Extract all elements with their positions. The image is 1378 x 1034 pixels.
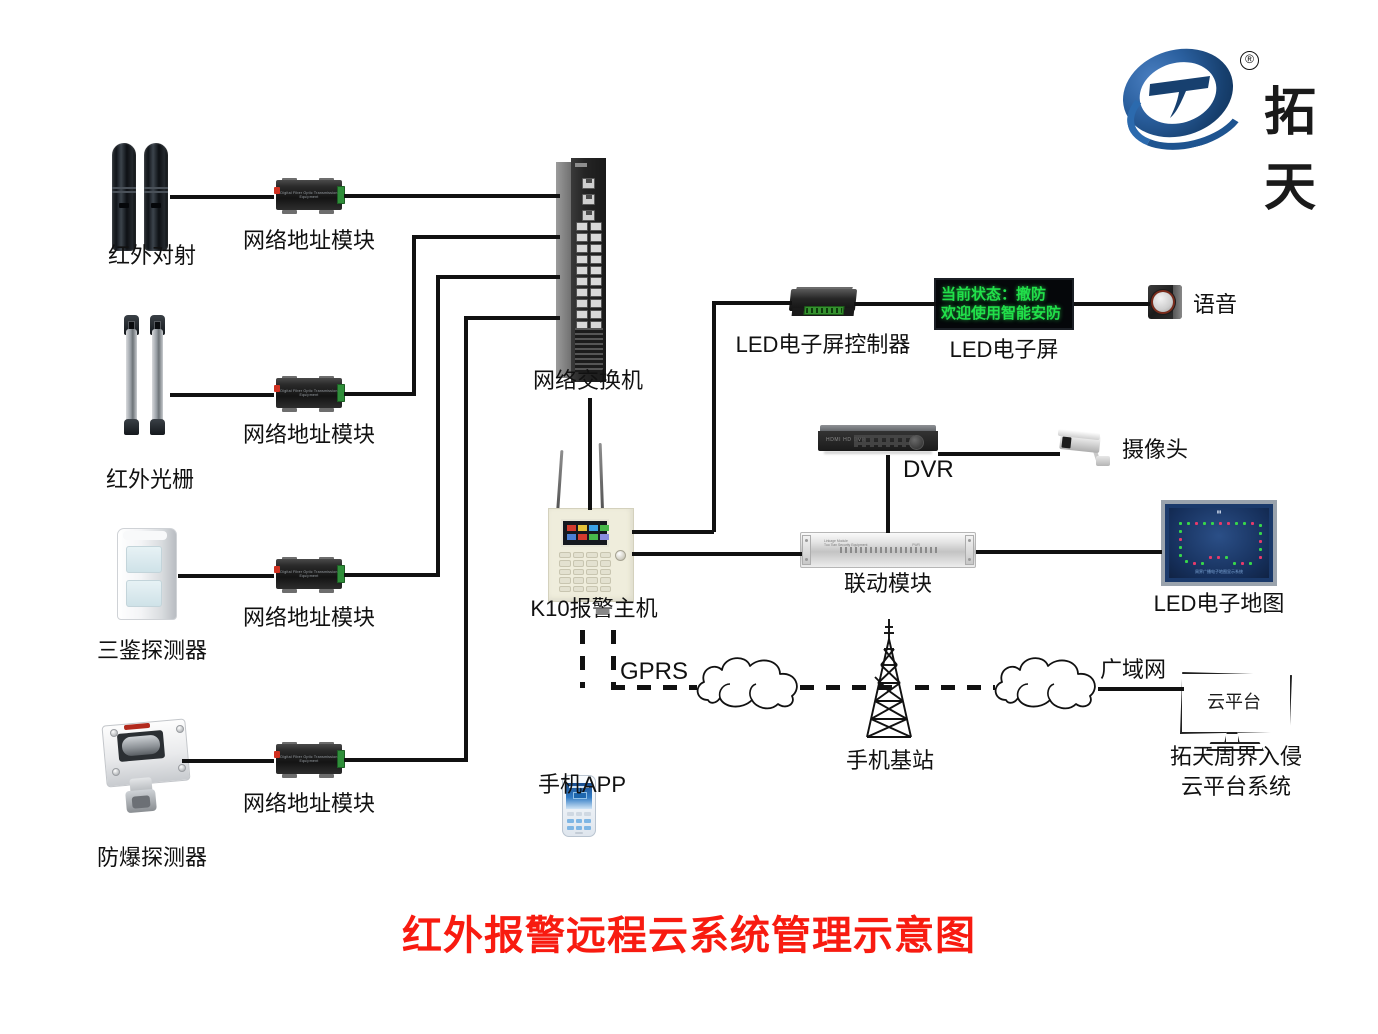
linkage-module-label: 联动模块 [844, 571, 932, 596]
link-board-voice [1074, 302, 1150, 306]
gprs-label: GPRS [620, 658, 688, 686]
ir-grating-label: 红外光栅 [106, 467, 194, 492]
monitor-screen-text: 云平台 [1180, 688, 1288, 714]
link-dvr-camera [938, 452, 1060, 456]
explosion-proof-detector-icon [100, 716, 210, 828]
cloud-platform-label-2: 云平台系统 [1181, 774, 1291, 799]
explosion-proof-label: 防爆探测器 [97, 845, 207, 870]
base-station-label: 手机基站 [846, 748, 934, 773]
net-address-module-4: Digital Fiber Optic Transmission Equipme… [272, 738, 346, 780]
cell-tower-icon [845, 619, 933, 747]
rack-linkage-module-icon: Linkage ModuleTuo Tian Security Equipmen… [800, 532, 976, 568]
triple-detector-label: 三鉴探测器 [97, 638, 207, 663]
dashed-k10-phone [580, 630, 585, 688]
link-module4-seg2 [464, 317, 468, 762]
link-module4-seg3 [464, 316, 560, 320]
led-line-2: 欢迎使用智能安防 [941, 304, 1067, 323]
link-grating-module [170, 393, 274, 397]
led-controller-label: LED电子屏控制器 [736, 332, 911, 357]
link-module3-seg3 [436, 275, 560, 279]
cloud-platform-label-1: 拓天周界入侵 [1170, 744, 1302, 769]
link-switch-k10 [588, 398, 592, 510]
link-module2-seg1 [344, 392, 416, 396]
dashed-gprs-riser [611, 630, 616, 687]
link-ledctl-board [854, 302, 936, 306]
dashed-cloud-to-tower [800, 685, 895, 690]
link-exp-module [182, 759, 274, 763]
link-k10-ledctl-seg1 [632, 530, 714, 534]
cloud-icon-right [988, 650, 1112, 714]
infrared-beam-sensor-icon [112, 143, 168, 251]
link-module3-seg1 [344, 573, 440, 577]
alarm-control-panel-icon [548, 508, 632, 600]
link-wan-monitor [1098, 687, 1184, 691]
speaker-icon [1148, 285, 1182, 319]
link-linkage-map [976, 550, 1162, 554]
link-module3-seg2 [436, 276, 440, 577]
module-caption-4: Digital Fiber Optic Transmission Equipme… [272, 755, 346, 764]
page-title: 红外报警远程云系统管理示意图 [402, 903, 976, 961]
led-display-board: 当前状态：撤防 欢迎使用智能安防 [934, 278, 1074, 330]
brand-name: 拓天 [1264, 70, 1362, 220]
wan-label: 广域网 [1100, 657, 1166, 682]
ir-beam-label: 红外对射 [108, 243, 196, 268]
alarm-host-label: K10报警主机 [530, 596, 657, 621]
led-screen-controller-icon [790, 287, 856, 321]
registered-mark: ® [1240, 50, 1259, 70]
led-electronic-map-icon: ▮▮ 周界广播电子地图显示系统 [1161, 500, 1277, 586]
link-k10-ledctl-seg2 [712, 301, 716, 532]
network-switch-icon [556, 158, 606, 382]
camera-label: 摄像头 [1122, 437, 1188, 462]
net-address-module-2: Digital Fiber Optic Transmission Equipme… [272, 372, 346, 414]
led-line-1: 当前状态：撤防 [941, 285, 1067, 304]
module-caption-1: Digital Fiber Optic Transmission Equipme… [272, 191, 346, 200]
link-module4-seg1 [344, 758, 468, 762]
dvr-label: DVR [903, 456, 954, 484]
voice-label: 语音 [1193, 292, 1237, 317]
link-module2-seg2 [412, 236, 416, 396]
phone-app-label: 手机APP [538, 772, 626, 797]
dvr-icon: HDMI HD DVR [818, 425, 938, 455]
net-module-label-2: 网络地址模块 [243, 422, 375, 447]
cloud-icon-left [690, 650, 814, 714]
link-k10-linkage [632, 552, 802, 556]
net-address-module-3: Digital Fiber Optic Transmission Equipme… [272, 553, 346, 595]
link-irbeam-module [170, 195, 274, 199]
pir-triple-detector-icon [117, 528, 177, 620]
infrared-grating-sensor-icon [124, 315, 172, 435]
logo-t-glyph [1136, 58, 1228, 130]
net-module-label-1: 网络地址模块 [243, 228, 375, 253]
led-board-label: LED电子屏 [950, 337, 1059, 362]
link-module1-switch [344, 194, 560, 198]
switch-label: 网络交换机 [533, 368, 643, 393]
module-caption-3: Digital Fiber Optic Transmission Equipme… [272, 570, 346, 579]
net-address-module-1: Digital Fiber Optic Transmission Equipme… [272, 174, 346, 216]
link-module2-seg3 [412, 235, 560, 239]
link-k10-ledctl-seg3 [712, 301, 792, 305]
brand-logo: ® 拓天 [1122, 44, 1362, 144]
cctv-camera-icon [1058, 430, 1116, 470]
net-module-label-4: 网络地址模块 [243, 791, 375, 816]
link-linkage-dvr [886, 455, 890, 533]
led-map-label: LED电子地图 [1154, 591, 1285, 616]
dashed-gprs-to-cloud [611, 685, 697, 690]
link-pir-module [178, 574, 274, 578]
dashed-tower-to-cloud2 [915, 685, 995, 690]
net-module-label-3: 网络地址模块 [243, 605, 375, 630]
diagram-canvas: ® 拓天 红外对射 Digital Fiber Optic Transmissi… [0, 0, 1378, 1034]
module-caption-2: Digital Fiber Optic Transmission Equipme… [272, 389, 346, 398]
